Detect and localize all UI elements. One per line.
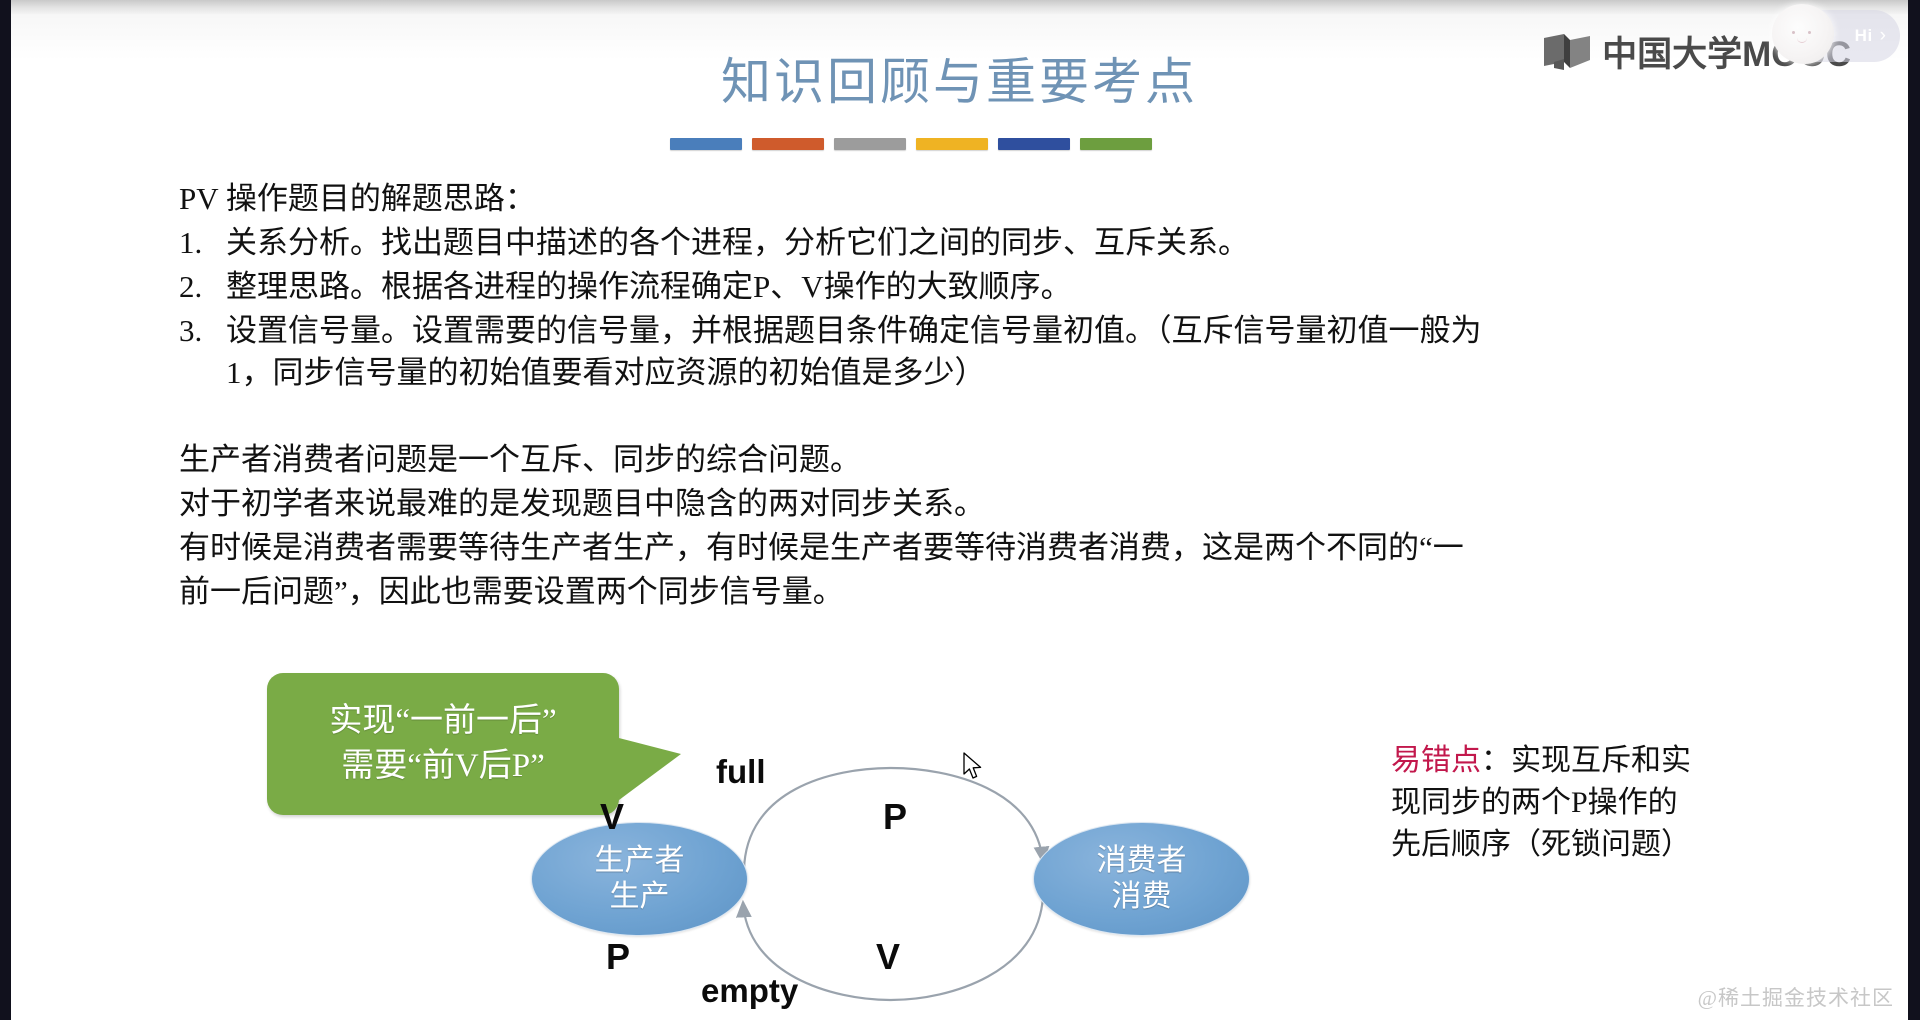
accent-bar-orange bbox=[752, 138, 824, 150]
node-producer-line-1: 生产者 bbox=[595, 843, 685, 879]
list-item-number: 1. bbox=[179, 222, 226, 264]
list-item: 2. 整理思路。根据各进程的操作流程确定P、V操作的大致顺序。 bbox=[179, 266, 1839, 308]
list-item-line: 整理思路。根据各进程的操作流程确定P、V操作的大致顺序。 bbox=[226, 266, 1839, 308]
op-label-p-top: P bbox=[883, 796, 907, 838]
slide-canvas: 中国大学MOOC Hi › 知识回顾与重要考点 PV 操作题目的解题思路： bbox=[11, 0, 1908, 1020]
paragraph-line: 前一后问题”，因此也需要设置两个同步信号量。 bbox=[179, 570, 1739, 614]
warning-note-highlight: 易错点 bbox=[1391, 744, 1481, 777]
node-consumer-line-1: 消费者 bbox=[1097, 843, 1187, 879]
warning-note-line-2: 现同步的两个P操作的 bbox=[1391, 782, 1811, 824]
list-item-line: 设置信号量。设置需要的信号量，并根据题目条件确定信号量初值。（互斥信号量初值一般… bbox=[226, 310, 1839, 352]
warning-note: 易错点：实现互斥和实 现同步的两个P操作的 先后顺序（死锁问题） bbox=[1391, 740, 1811, 866]
top-sheen-strip bbox=[11, 0, 1908, 14]
op-label-v-bottom: V bbox=[876, 936, 900, 978]
list-item-line: 关系分析。找出题目中描述的各个进程，分析它们之间的同步、互斥关系。 bbox=[226, 222, 1839, 264]
list-item: 3. 设置信号量。设置需要的信号量，并根据题目条件确定信号量初值。（互斥信号量初… bbox=[179, 310, 1839, 394]
list-item-text: 整理思路。根据各进程的操作流程确定P、V操作的大致顺序。 bbox=[226, 266, 1839, 308]
list-item-text: 设置信号量。设置需要的信号量，并根据题目条件确定信号量初值。（互斥信号量初值一般… bbox=[226, 310, 1839, 394]
node-producer: 生产者 生产 bbox=[531, 822, 748, 936]
node-consumer: 消费者 消费 bbox=[1033, 822, 1250, 936]
list-item-text: 关系分析。找出题目中描述的各个进程，分析它们之间的同步、互斥关系。 bbox=[226, 222, 1839, 264]
slide-body-list: PV 操作题目的解题思路： 1. 关系分析。找出题目中描述的各个进程，分析它们之… bbox=[179, 178, 1839, 396]
chevron-right-icon: › bbox=[1880, 25, 1886, 47]
accent-bar-darkblue bbox=[998, 138, 1070, 150]
paragraph-line: 对于初学者来说最难的是发现题目中隐含的两对同步关系。 bbox=[179, 482, 1739, 526]
accent-bar-yellow bbox=[916, 138, 988, 150]
list-item: 1. 关系分析。找出题目中描述的各个进程，分析它们之间的同步、互斥关系。 bbox=[179, 222, 1839, 264]
warning-note-line-1: 易错点：实现互斥和实 bbox=[1391, 740, 1811, 782]
slide-paragraphs: 生产者消费者问题是一个互斥、同步的综合问题。 对于初学者来说最难的是发现题目中隐… bbox=[179, 438, 1739, 614]
accent-bar-green bbox=[1080, 138, 1152, 150]
page-title: 知识回顾与重要考点 bbox=[11, 42, 1908, 114]
paragraph-line: 生产者消费者问题是一个互斥、同步的综合问题。 bbox=[179, 438, 1739, 482]
callout-line-2: 需要“前V后P” bbox=[341, 744, 544, 789]
accent-bar-blue bbox=[670, 138, 742, 150]
op-label-p-bottom: P bbox=[606, 936, 630, 978]
list-item-number: 2. bbox=[179, 266, 226, 308]
warning-note-rest: ：实现互斥和实 bbox=[1481, 744, 1691, 777]
lead-line: PV 操作题目的解题思路： bbox=[179, 178, 1839, 220]
warning-note-line-3: 先后顺序（死锁问题） bbox=[1391, 824, 1811, 866]
title-accent-bars bbox=[670, 138, 1152, 150]
node-consumer-line-2: 消费 bbox=[1112, 879, 1172, 915]
watermark: @稀土掘金技术社区 bbox=[1698, 982, 1894, 1012]
op-label-v-top: V bbox=[600, 796, 624, 838]
accent-bar-gray bbox=[834, 138, 906, 150]
callout-line-1: 实现“一前一后” bbox=[329, 699, 556, 744]
producer-consumer-diagram: 生产者 生产 消费者 消费 full empty V P P V bbox=[531, 750, 1251, 1020]
paragraph-line: 有时候是消费者需要等待生产者生产，有时候是生产者要等待消费者消费，这是两个不同的… bbox=[179, 526, 1739, 570]
hi-label: Hi bbox=[1855, 26, 1873, 46]
list-item-number: 3. bbox=[179, 310, 226, 394]
edge-label-empty: empty bbox=[701, 972, 798, 1010]
list-item-line: 1，同步信号量的初始值要看对应资源的初始值是多少） bbox=[226, 352, 1839, 394]
video-player-frame: 中国大学MOOC Hi › 知识回顾与重要考点 PV 操作题目的解题思路： bbox=[0, 0, 1920, 1020]
node-producer-line-2: 生产 bbox=[610, 879, 670, 915]
edge-label-full: full bbox=[716, 753, 765, 791]
